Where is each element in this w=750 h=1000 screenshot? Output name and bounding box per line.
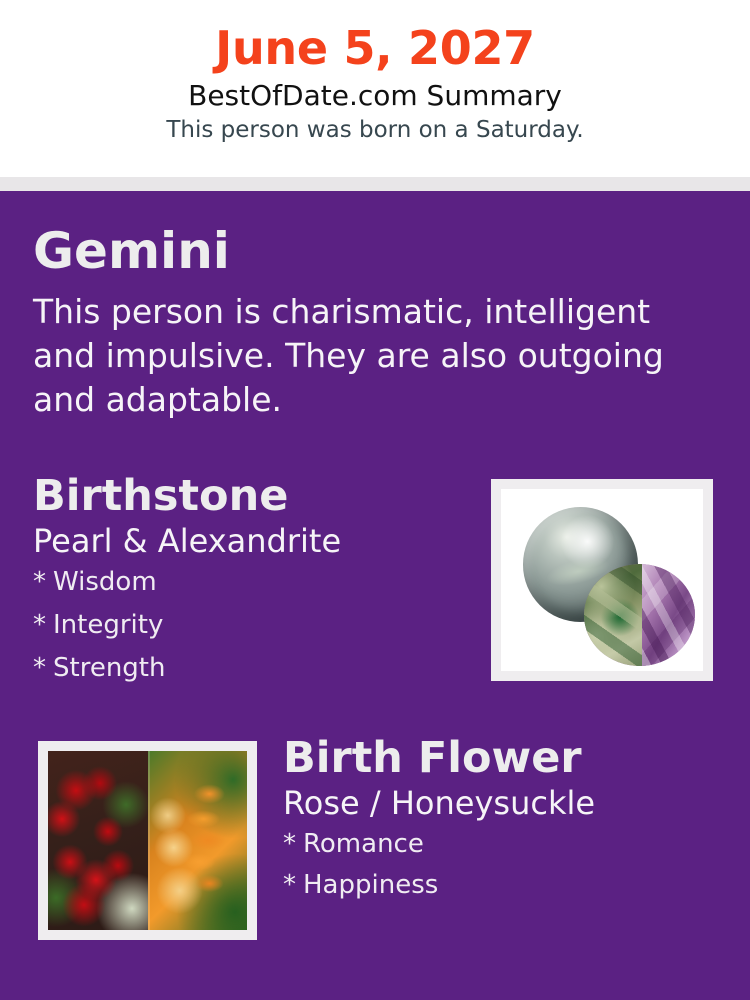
asterisk-icon: * (283, 872, 303, 898)
photo-split-divider (148, 751, 150, 930)
birthstone-title: Birthstone (33, 475, 463, 518)
birth-flower-trait-label: Happiness (303, 870, 438, 900)
birth-flower-section: Birth Flower Rose / Honeysuckle *Romance… (283, 737, 723, 913)
page-title: June 5, 2027 (0, 0, 750, 72)
list-item: *Happiness (283, 872, 723, 913)
birth-flower-photo-frame (38, 741, 257, 940)
birthstone-trait-label: Integrity (53, 610, 163, 640)
birth-flower-names: Rose / Honeysuckle (283, 780, 723, 821)
alexandrite-faceted-half (642, 564, 695, 666)
zodiac-description: This person is charismatic, intelligent … (33, 276, 701, 422)
list-item: *Strength (33, 655, 463, 698)
asterisk-icon: * (283, 831, 303, 857)
card-header: June 5, 2027 BestOfDate.com Summary This… (0, 0, 750, 177)
birth-flower-title: Birth Flower (283, 737, 723, 780)
alexandrite-image (584, 564, 695, 666)
birthstone-photo (501, 489, 703, 671)
zodiac-sign-title: Gemini (33, 226, 713, 276)
rose-image (48, 751, 148, 930)
birthstone-trait-label: Wisdom (53, 567, 157, 597)
birth-flower-trait-label: Romance (303, 829, 424, 859)
birthstone-names: Pearl & Alexandrite (33, 518, 463, 559)
birthstone-photo-frame (491, 479, 713, 681)
honeysuckle-image (148, 751, 248, 930)
asterisk-icon: * (33, 655, 53, 681)
birth-day-note: This person was born on a Saturday. (0, 112, 750, 143)
list-item: *Romance (283, 831, 723, 872)
summary-card: June 5, 2027 BestOfDate.com Summary This… (0, 0, 750, 1000)
birthstone-trait-list: *Wisdom *Integrity *Strength (33, 559, 463, 698)
birth-flower-trait-list: *Romance *Happiness (283, 821, 723, 913)
asterisk-icon: * (33, 612, 53, 638)
asterisk-icon: * (33, 569, 53, 595)
birthstone-trait-label: Strength (53, 653, 165, 683)
list-item: *Wisdom (33, 569, 463, 612)
zodiac-section: Gemini This person is charismatic, intel… (33, 226, 713, 422)
site-summary-label: BestOfDate.com Summary (0, 72, 750, 112)
alexandrite-rough-half (584, 564, 642, 666)
header-divider (0, 177, 750, 191)
birthstone-section: Birthstone Pearl & Alexandrite *Wisdom *… (33, 475, 463, 698)
list-item: *Integrity (33, 612, 463, 655)
birth-flower-photo (48, 751, 247, 930)
